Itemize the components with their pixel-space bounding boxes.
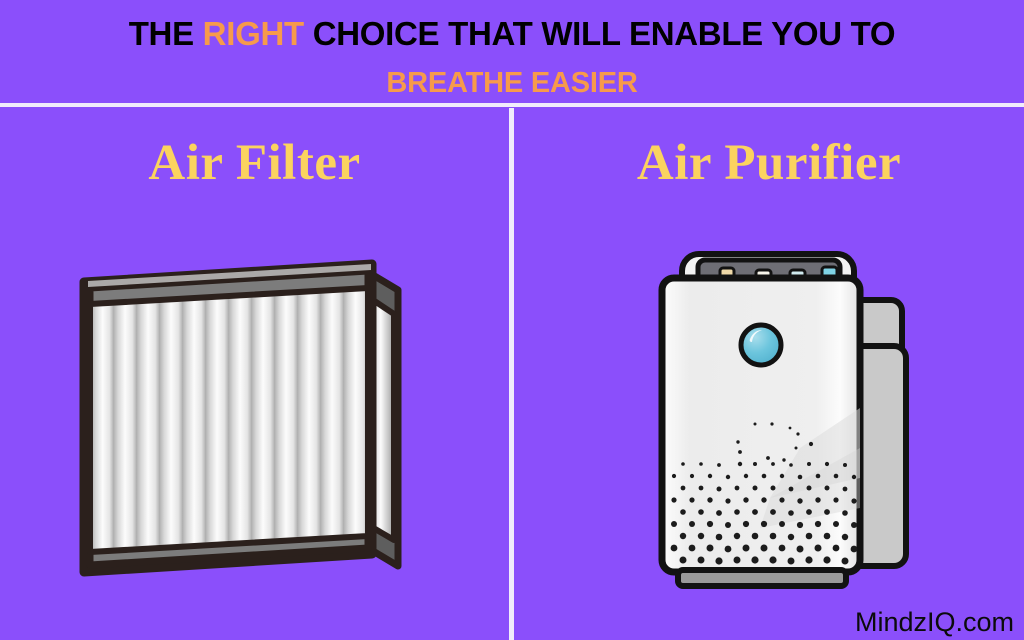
panel-air-purifier: Air Purifier [514,108,1024,640]
air-purifier-svg [650,248,930,628]
horizontal-divider [0,103,1024,107]
air-filter-illustration [68,248,438,628]
header-banner: THE RIGHT CHOICE THAT WILL ENABLE YOU TO… [0,0,1024,105]
panel-title-air-purifier: Air Purifier [514,134,1024,192]
panel-title-air-filter: Air Filter [0,134,509,192]
headline: THE RIGHT CHOICE THAT WILL ENABLE YOU TO [0,14,1024,54]
infographic-canvas: THE RIGHT CHOICE THAT WILL ENABLE YOU TO… [0,0,1024,640]
purifier-base [678,570,846,586]
headline-post: CHOICE THAT WILL ENABLE YOU TO [304,15,895,52]
headline-accent-word: RIGHT [203,15,304,52]
purifier-body [662,278,860,572]
panel-air-filter: Air Filter [0,108,509,640]
watermark: MindzIQ.com [855,607,1014,638]
purifier-indicator-light[interactable] [741,325,781,365]
air-filter-svg [68,248,438,628]
headline-pre: THE [129,15,203,52]
subheadline: BREATHE EASIER [0,66,1024,100]
air-purifier-illustration [650,248,930,628]
filter-pleats [90,287,368,552]
